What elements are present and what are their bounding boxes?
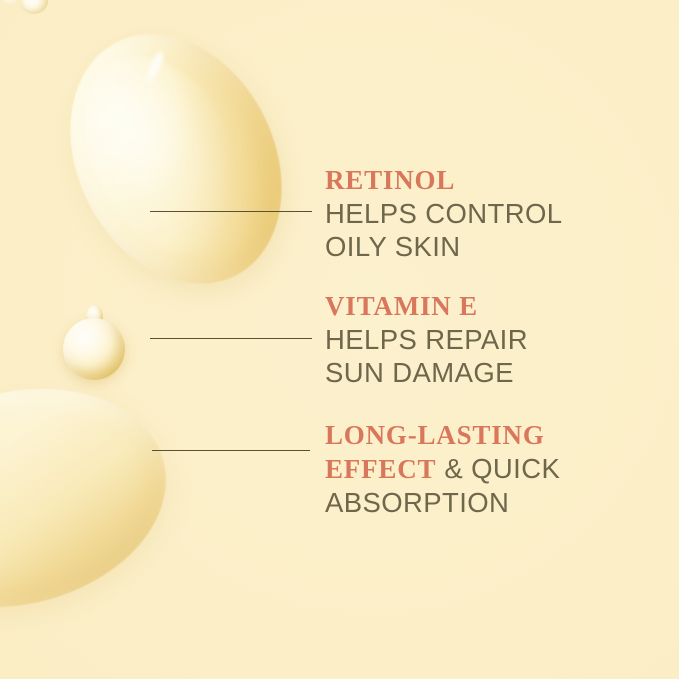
benefits-content: RETINOL HELPS CONTROL OILY SKIN VITAMIN … (0, 0, 679, 679)
benefit-keyword-line: VITAMIN E (325, 289, 645, 323)
benefit-description-line-2: OILY SKIN (325, 230, 645, 263)
benefit-description-line-2: SUN DAMAGE (325, 356, 645, 389)
benefit-keyword-line: LONG-LASTING (325, 418, 645, 452)
benefit-keyword-continued: EFFECT (325, 454, 436, 484)
product-benefits-poster: RETINOL HELPS CONTROL OILY SKIN VITAMIN … (0, 0, 679, 679)
benefit-leader-line (152, 450, 310, 451)
benefit-description-line-1: ABSORPTION (325, 486, 645, 519)
benefit-keyword-line: RETINOL (325, 163, 645, 197)
benefit-description-line-1: HELPS CONTROL (325, 197, 645, 230)
benefit-description-inline: & QUICK (436, 453, 560, 484)
benefit-keyword: LONG-LASTING (325, 420, 545, 450)
benefit-text-block: LONG-LASTING EFFECT & QUICK ABSORPTION (325, 418, 645, 519)
benefit-description-text: HELPS CONTROL (325, 198, 562, 229)
benefit-text-block: VITAMIN E HELPS REPAIR SUN DAMAGE (325, 289, 645, 389)
benefit-text-block: RETINOL HELPS CONTROL OILY SKIN (325, 163, 645, 263)
benefit-keyword-line-2: EFFECT & QUICK (325, 452, 645, 486)
benefit-description-text: ABSORPTION (325, 487, 509, 518)
benefit-keyword: VITAMIN E (325, 291, 478, 321)
benefit-description-line-1: HELPS REPAIR (325, 323, 645, 356)
benefit-description-text: SUN DAMAGE (325, 357, 514, 388)
benefit-description-text: HELPS REPAIR (325, 324, 528, 355)
benefit-description-text: OILY SKIN (325, 231, 461, 262)
benefit-leader-line (150, 338, 312, 339)
benefit-leader-line (150, 211, 312, 212)
benefit-keyword: RETINOL (325, 165, 455, 195)
